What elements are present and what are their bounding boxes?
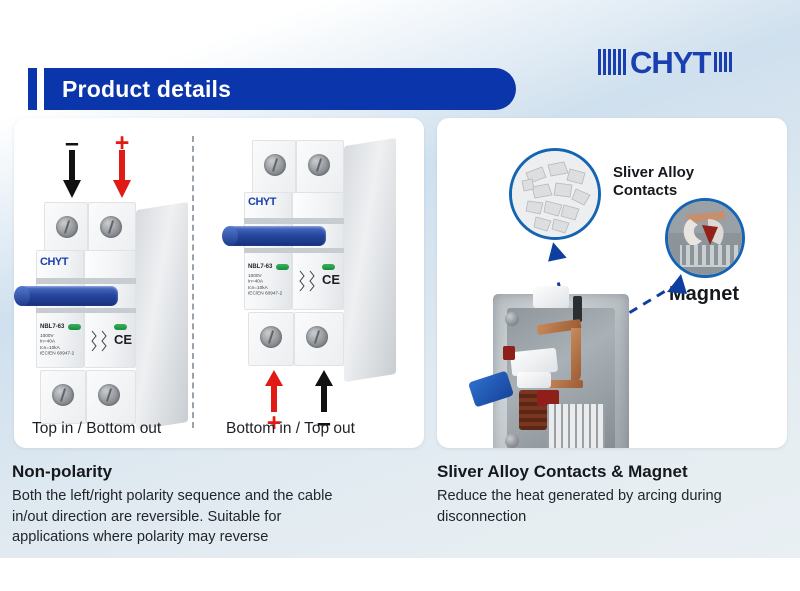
arrow-down-red-icon [112, 150, 132, 200]
arrow-up-black-icon [314, 370, 334, 412]
breaker-logo-a: CHYT [40, 256, 68, 268]
header-accent-tick [28, 68, 37, 110]
card-non-polarity: – + CHYT NBL7-63 [14, 118, 424, 448]
breaker-ce-b: CE [322, 272, 340, 287]
arrow-up-red-icon [264, 370, 284, 412]
callout-label-contacts: Sliver Alloy Contacts [613, 164, 694, 201]
breaker-cutaway [493, 294, 629, 448]
breaker-model-a: NBL7-63 [40, 324, 64, 330]
feature-body-non-polarity: Both the left/right polarity sequence an… [12, 486, 432, 548]
feature-body-silver-alloy: Reduce the heat generated by arcing duri… [437, 486, 789, 527]
breaker-logo-b: CHYT [248, 196, 276, 208]
caption-bottom-in-top-out: Bottom in / Top out [226, 420, 355, 438]
slide-page: Product details CHYT – + [0, 0, 800, 591]
marker-top-right: + [112, 136, 132, 200]
arrow-down-black-icon [62, 150, 82, 200]
logo-right-bars [714, 49, 732, 75]
logo-left-bars [598, 49, 626, 75]
breaker-bottom-in-top-out: CHYT NBL7-63 1000V In=40A Icn=10kA IEC/E… [226, 136, 406, 366]
logo-text: CHYT [630, 47, 710, 78]
callout-bubble-contacts [509, 148, 601, 240]
callout-bubble-magnet [665, 198, 745, 278]
page-title: Product details [62, 76, 231, 103]
marker-sign-plus: + [115, 136, 130, 150]
breaker-specs-a: 1000V In=40A Icn=10kA IEC/EN 60947-2 [40, 333, 74, 357]
breaker-top-in-bottom-out: CHYT NBL7-63 1000V In=40A Icn=10kA IEC/E… [18, 200, 198, 430]
feature-title-non-polarity: Non-polarity [12, 462, 112, 482]
breaker-specs-b: 1000V In=40A Icn=10kA IEC/EN 60947-2 [248, 273, 282, 297]
breaker-model-b: NBL7-63 [248, 264, 272, 270]
card-silver-alloy-magnet: Sliver Alloy Contacts Magnet [437, 118, 787, 448]
caption-top-in-bottom-out: Top in / Bottom out [32, 420, 161, 438]
feature-title-silver-alloy: Sliver Alloy Contacts & Magnet [437, 462, 688, 482]
brand-logo: CHYT [598, 44, 778, 80]
marker-sign-minus: – [65, 136, 79, 150]
breaker-ce-a: CE [114, 332, 132, 347]
marker-top-left: – [62, 136, 82, 200]
